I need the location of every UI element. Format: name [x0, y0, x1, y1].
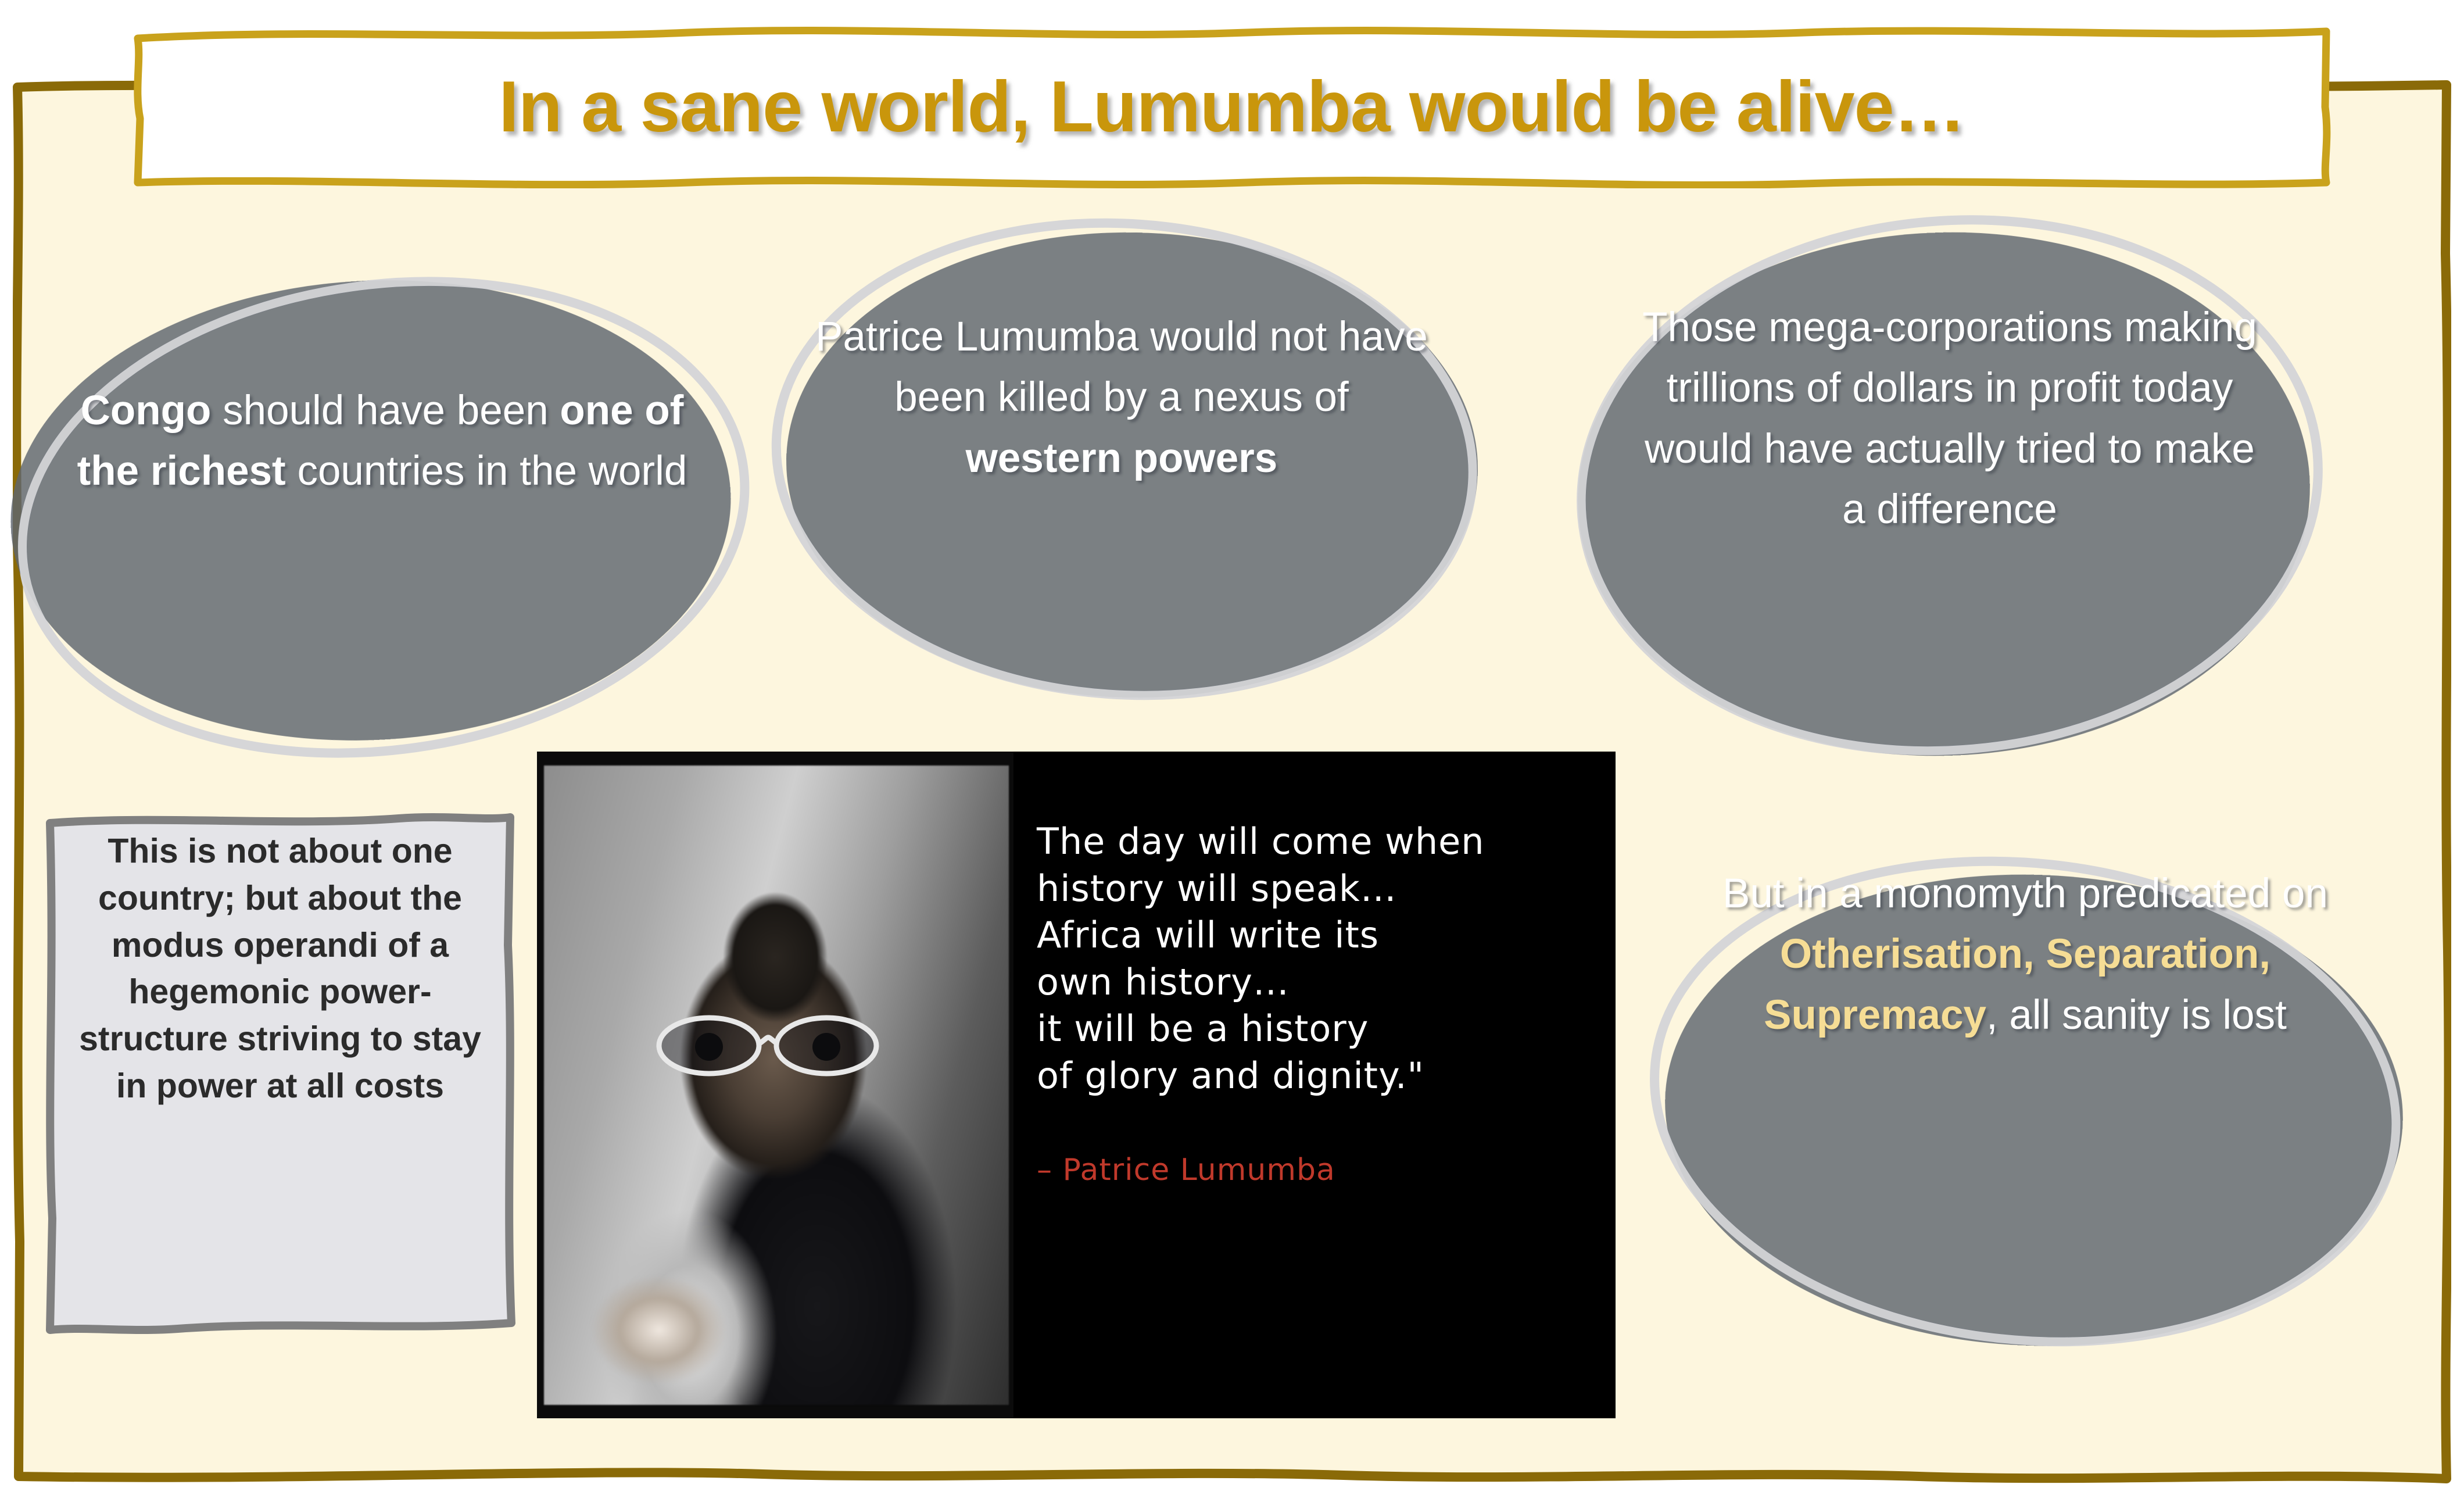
slide-canvas: Congo should have been one of the riches… [0, 0, 2464, 1495]
pointing-hand-icon [572, 1257, 746, 1403]
ellipse-corporations-text: Those mega-corporations making trillions… [1633, 298, 2266, 540]
quote-line-4: it will be a history [1037, 1006, 1592, 1053]
quote-line-5: of glory and dignity." [1037, 1053, 1592, 1100]
ellipse-congo-run-0: Congo [81, 388, 223, 434]
quote-line-3: own history… [1037, 959, 1592, 1006]
lumumba-quote-image: The day will come when history will spea… [537, 752, 1616, 1418]
ellipse-congo-run-1: should have been [223, 388, 560, 434]
ellipse-lumumba-run-0: Patrice Lumumba would not have been kill… [815, 314, 1428, 420]
quote-line-2: Africa will write its [1037, 912, 1592, 959]
note-box-text: This is not about one country; but about… [62, 828, 499, 1110]
ellipse-corporations-run-0: Those mega-corporations making trillions… [1642, 305, 2257, 532]
ellipse-monomyth-text: But in a monomyth predicated on Otherisa… [1703, 864, 2348, 1046]
quote-line-0: The day will come when [1037, 818, 1592, 865]
page-title: In a sane world, Lumumba would be alive… [131, 26, 2333, 188]
lumumba-quote-text: The day will come when history will spea… [1037, 818, 1592, 1100]
ellipse-monomyth-run-0: But in a monomyth predicated on [1722, 871, 2328, 917]
ellipse-monomyth-run-2: , all sanity is lost [1986, 992, 2287, 1038]
ellipse-lumumba-text: Patrice Lumumba would not have been kill… [814, 307, 1430, 489]
quote-line-1: history will speak… [1037, 865, 1592, 913]
slide-title-box: In a sane world, Lumumba would be alive… [131, 26, 2333, 188]
eyeglasses-icon [652, 1012, 884, 1081]
ellipse-lumumba-run-1: western powers [966, 435, 1278, 481]
lumumba-quote-attribution: – Patrice Lumumba [1037, 1153, 1335, 1188]
ellipse-congo-run-3: countries in the world [297, 448, 687, 494]
lumumba-portrait-pane [537, 752, 1013, 1418]
note-box: This is not about one country; but about… [44, 811, 516, 1349]
ellipse-congo-text: Congo should have been one of the riches… [61, 381, 703, 502]
